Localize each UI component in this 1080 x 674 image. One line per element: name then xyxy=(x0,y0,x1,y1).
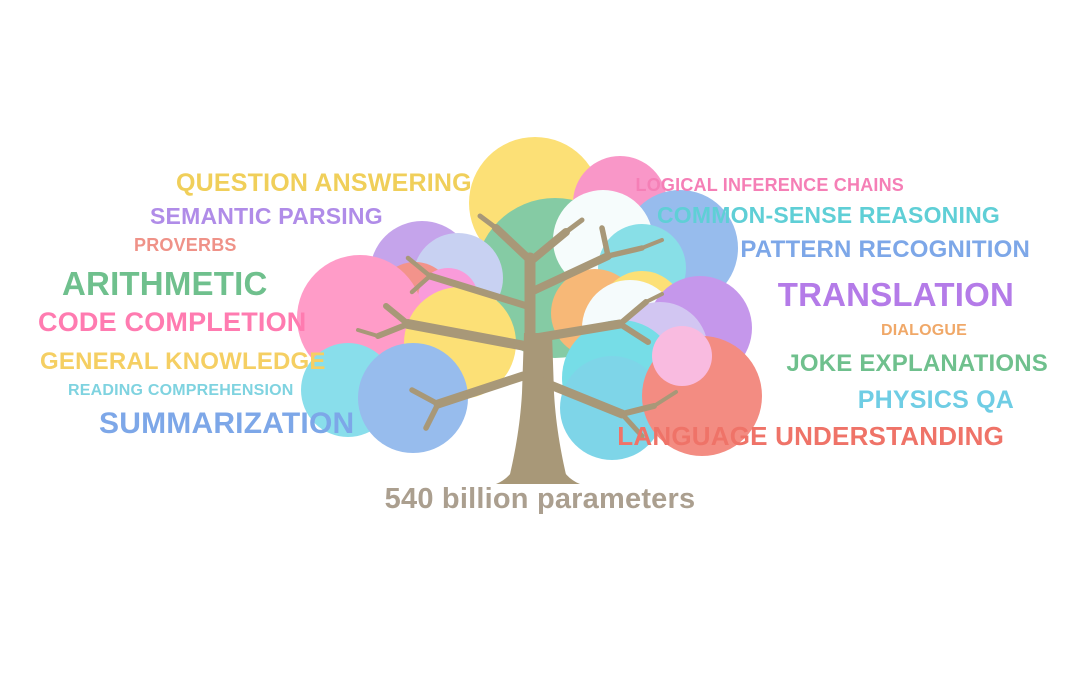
keyword-language-understanding: LANGUAGE UNDERSTANDING xyxy=(617,423,1004,449)
keyword-pattern-recognition: PATTERN RECOGNITION xyxy=(740,238,1030,262)
keyword-physics-qa: PHYSICS QA xyxy=(858,388,1014,413)
keyword-dialogue: DIALOGUE xyxy=(881,323,967,339)
tree-trunk-flare xyxy=(496,460,580,484)
keyword-translation: TRANSLATION xyxy=(778,278,1014,311)
keyword-general-knowledge: GENERAL KNOWLEDGE xyxy=(40,350,326,374)
canopy-circle-pink-right-small xyxy=(652,326,712,386)
keyword-question-answering: QUESTION ANSWERING xyxy=(176,171,472,196)
figure-caption: 540 billion parameters xyxy=(0,483,1080,516)
keyword-arithmetic: ARITHMETIC xyxy=(62,267,267,300)
keyword-semantic-parsing: SEMANTIC PARSING xyxy=(150,205,383,228)
keyword-code-completion: CODE COMPLETION xyxy=(38,309,307,336)
figure-canvas: QUESTION ANSWERING SEMANTIC PARSING PROV… xyxy=(0,0,1080,674)
keyword-reading-comprehension: READING COMPREHENSION xyxy=(68,383,294,399)
keyword-joke-explanations: JOKE EXPLANATIONS xyxy=(786,352,1048,376)
keyword-proverbs: PROVERBS xyxy=(134,236,237,254)
keyword-summarization: SUMMARIZATION xyxy=(99,409,354,439)
keyword-logical-inference-chains: LOGICAL INFERENCE CHAINS xyxy=(636,176,904,194)
keyword-common-sense-reasoning: COMMON-SENSE REASONING xyxy=(657,204,1000,227)
